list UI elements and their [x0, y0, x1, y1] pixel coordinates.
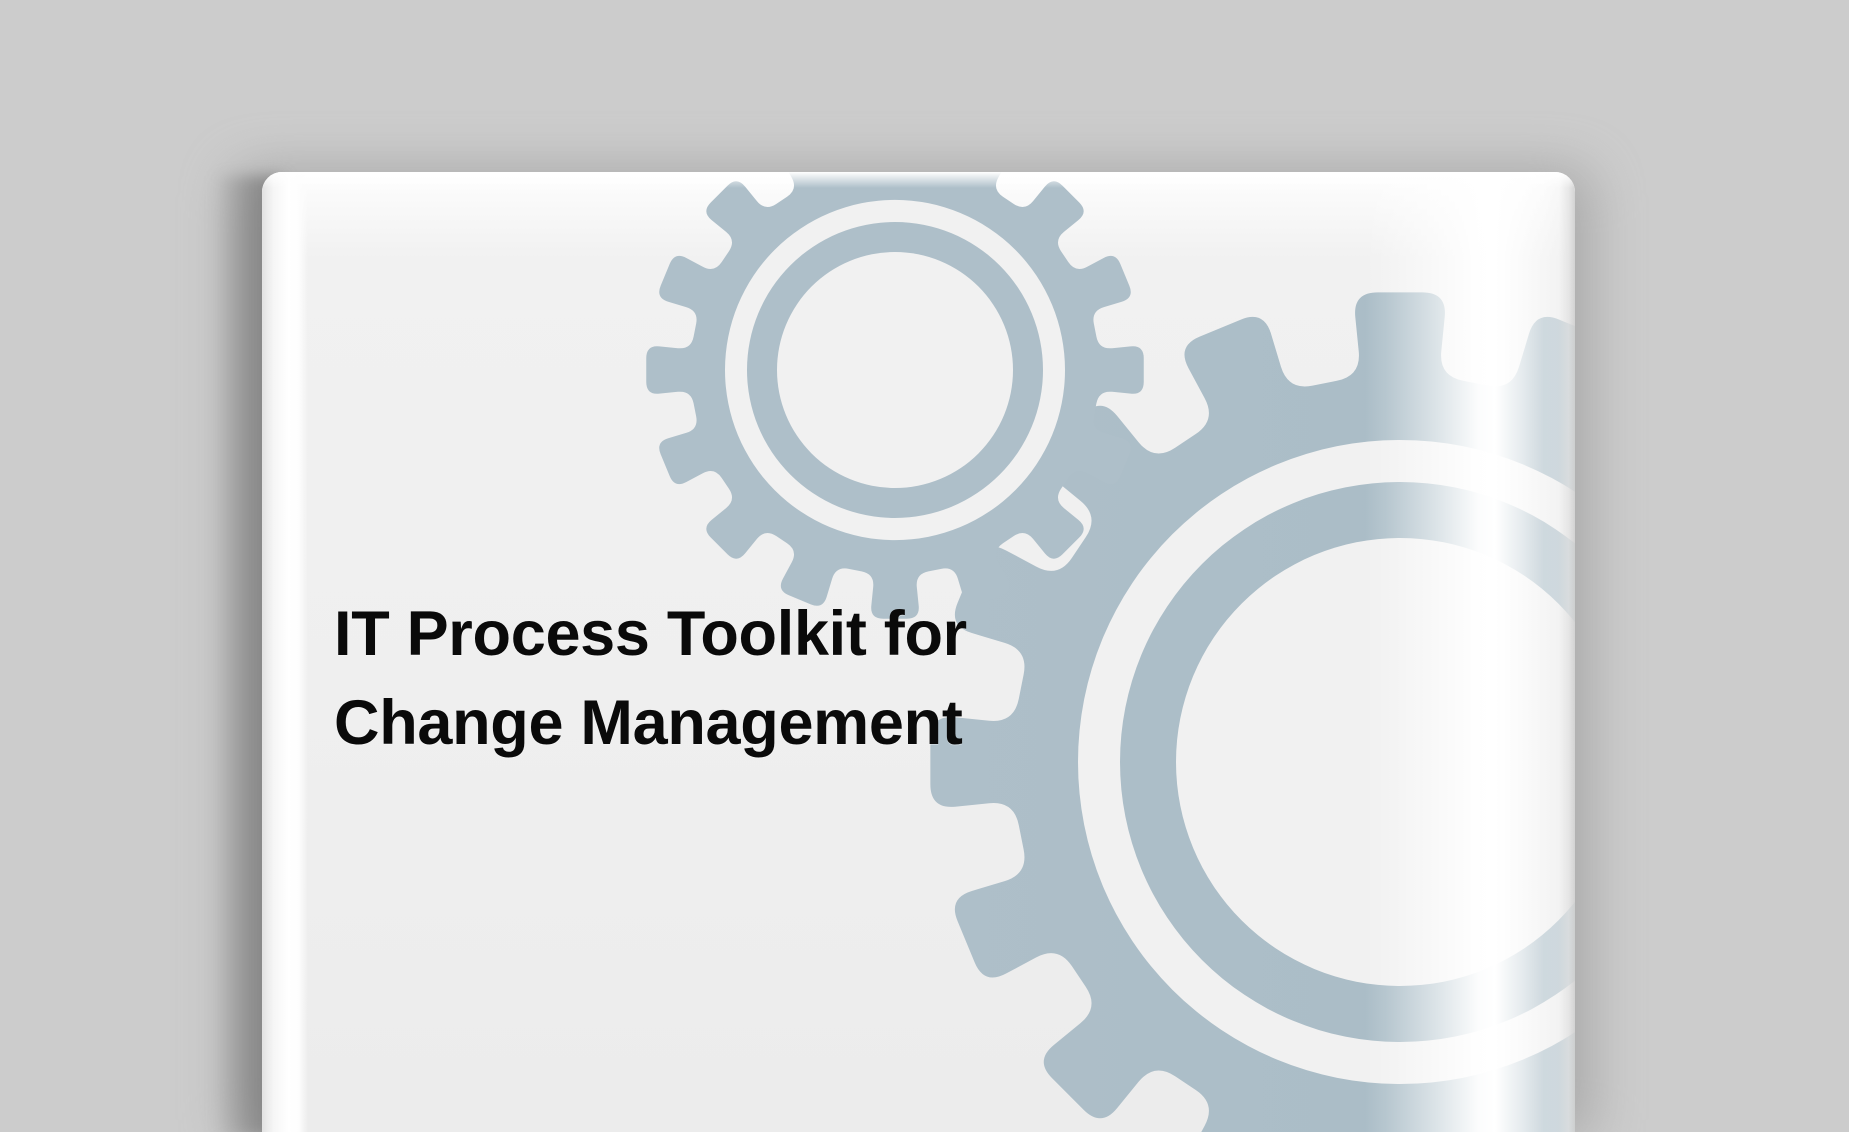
book-cover: IT Process Toolkit for Change Management: [262, 172, 1575, 1132]
cover-title: IT Process Toolkit for Change Management: [334, 590, 1034, 769]
mockup-canvas: IT Process Toolkit for Change Management: [0, 0, 1849, 1132]
gear-small-icon: [646, 172, 1144, 619]
gear-hub-hole: [777, 252, 1013, 488]
